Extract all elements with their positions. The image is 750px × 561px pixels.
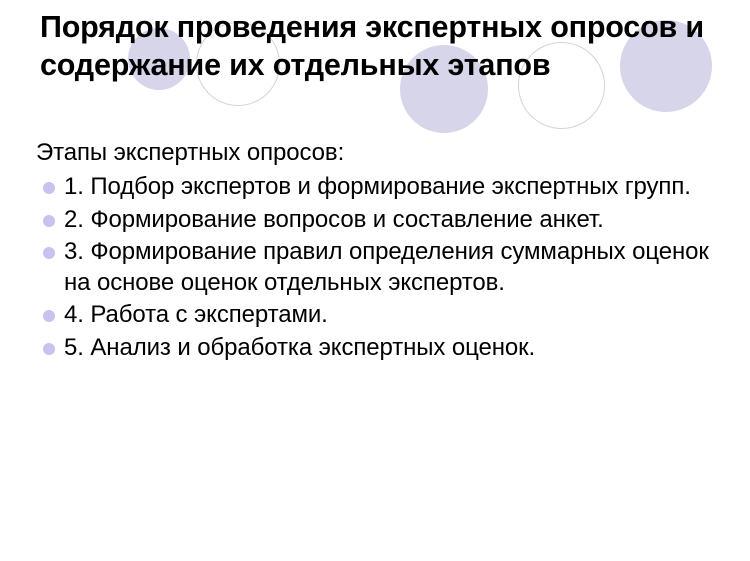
- list-item-label: 3. Формирование правил определения сумма…: [64, 238, 709, 296]
- filled-circle-bullet-icon: [43, 247, 55, 259]
- filled-circle-bullet-icon: [43, 182, 55, 194]
- stages-list: 1. Подбор экспертов и формирование экспе…: [36, 172, 736, 363]
- list-item: 3. Формирование правил определения сумма…: [36, 237, 736, 298]
- filled-circle-bullet-icon: [43, 310, 55, 322]
- list-item-label: 5. Анализ и обработка экспертных оценок.: [64, 334, 535, 361]
- list-item: 2. Формирование вопросов и составление а…: [36, 205, 736, 236]
- filled-circle-bullet-icon: [43, 343, 55, 355]
- list-item: 4. Работа с экспертами.: [36, 300, 736, 331]
- slide-canvas: Порядок проведения экспертных опросов и …: [0, 0, 750, 561]
- list-item-label: 4. Работа с экспертами.: [64, 301, 328, 328]
- slide-title: Порядок проведения экспертных опросов и …: [40, 8, 720, 84]
- list-item: 1. Подбор экспертов и формирование экспе…: [36, 172, 736, 203]
- filled-circle-bullet-icon: [43, 215, 55, 227]
- list-item-label: 1. Подбор экспертов и формирование экспе…: [64, 173, 691, 200]
- list-item: 5. Анализ и обработка экспертных оценок.: [36, 333, 736, 364]
- slide-body: Этапы экспертных опросов: 1. Подбор эксп…: [36, 137, 736, 365]
- body-lead-text: Этапы экспертных опросов:: [36, 137, 736, 168]
- list-item-label: 2. Формирование вопросов и составление а…: [64, 206, 604, 233]
